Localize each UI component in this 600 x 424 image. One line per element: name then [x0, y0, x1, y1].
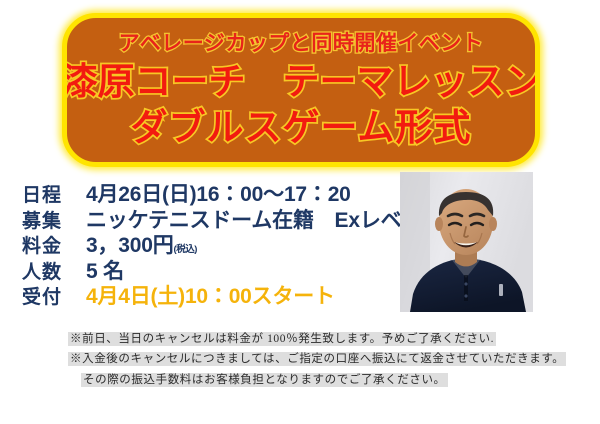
notice-line-2-text: ※入金後のキャンセルにつきましては、ご指定の口座へ振込にて返金させていただきます… — [68, 352, 566, 366]
notice-line-3-text: その際の振込手数料はお客様負担となりますのでご了承ください。 — [81, 373, 448, 387]
detail-label-eligibility: 募集 — [22, 206, 86, 233]
detail-label-capacity: 人数 — [22, 257, 86, 284]
notice-line-3: その際の振込手数料はお客様負担となりますのでご了承ください。 — [68, 370, 548, 390]
notice-line-1-text: ※前日、当日のキャンセルは料金が 100％発生致します。予めご了承ください. — [68, 332, 496, 346]
coach-portrait-illustration — [400, 172, 533, 312]
detail-label-registration: 受付 — [22, 282, 86, 309]
detail-row-eligibility: 募集 ニッケテニスドーム在籍 Exレベルの方 — [22, 204, 392, 230]
banner-subtitle: アベレージカップと同時開催イベント — [119, 33, 484, 54]
coach-photo — [400, 172, 533, 312]
detail-label-schedule: 日程 — [22, 180, 86, 207]
detail-row-capacity: 人数 5 名 — [22, 255, 392, 281]
detail-price-tax-note: (税込) — [174, 241, 197, 255]
detail-row-schedule: 日程 4月26日(日)16：00〜17：20 — [22, 178, 392, 204]
banner-title-line-2: ダブルスゲーム形式 — [131, 107, 472, 150]
detail-row-registration: 受付 4月4日(土)10：00スタート — [22, 280, 392, 306]
event-details-list: 日程 4月26日(日)16：00〜17：20 募集 ニッケテニスドーム在籍 Ex… — [22, 178, 392, 306]
cancellation-policy-notices: ※前日、当日のキャンセルは料金が 100％発生致します。予めご了承ください. ※… — [68, 329, 548, 390]
notice-line-2: ※入金後のキャンセルにつきましては、ご指定の口座へ振込にて返金させていただきます… — [68, 349, 548, 369]
event-header-banner: アベレージカップと同時開催イベント 漆原コーチ テーマレッスン ダブルスゲーム形… — [62, 13, 540, 167]
banner-title-line-1: 漆原コーチ テーマレッスン — [62, 61, 540, 104]
notice-line-1: ※前日、当日のキャンセルは料金が 100％発生致します。予めご了承ください. — [68, 329, 548, 349]
detail-label-price: 料金 — [22, 231, 86, 258]
detail-value-registration: 4月4日(土)10：00スタート — [86, 280, 335, 310]
